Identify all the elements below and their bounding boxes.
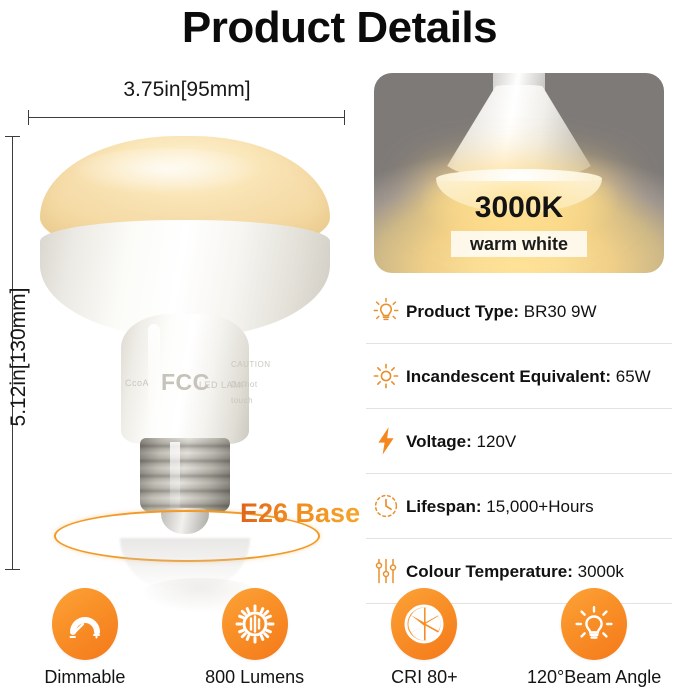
bulb-marking-left: CcoA: [125, 378, 149, 388]
width-dimension-line: [28, 117, 345, 118]
bulb-screw-highlight: [170, 442, 180, 508]
feature-label-lumens: 800 Lumens: [205, 667, 304, 688]
card-bulb-body: [438, 85, 600, 181]
spec-lifespan-text: Lifespan: 15,000+Hours: [406, 496, 598, 517]
spec-label-voltage: Voltage:: [406, 432, 472, 451]
spec-label-product-type: Product Type:: [406, 302, 519, 321]
sun-icon: [366, 363, 406, 389]
spec-list: Product Type: BR30 9W Incandescent Equiv…: [366, 279, 672, 604]
page-title: Product Details: [0, 2, 679, 54]
feature-label-dimmable: Dimmable: [44, 667, 125, 688]
product-details-infographic: Product Details 3.75in[95mm] 5.12in[130m…: [0, 0, 679, 696]
spec-row-incandescent-equivalent: Incandescent Equivalent: 65W: [366, 344, 672, 409]
spec-label-lifespan: Lifespan:: [406, 497, 482, 516]
bulb-dome-highlight: [72, 148, 262, 194]
spec-row-product-type: Product Type: BR30 9W: [366, 279, 672, 344]
spec-voltage-text: Voltage: 120V: [406, 431, 520, 452]
feature-dimmable: Dimmable: [0, 588, 170, 696]
spec-label-colour-temperature: Colour Temperature:: [406, 562, 573, 581]
bolt-icon: [366, 426, 406, 456]
feature-label-cri: CRI 80+: [391, 667, 458, 688]
lightbulb-icon: [366, 297, 406, 325]
spec-row-lifespan: Lifespan: 15,000+Hours: [366, 474, 672, 539]
feature-icon-row: Dimmable 800 Lumens: [0, 588, 679, 696]
bulb-marking-caution-3: touch: [231, 396, 253, 405]
e26-base-label: E26 Base: [240, 498, 360, 529]
bulb-marking-caution: CAUTION: [231, 360, 271, 369]
kelvin-description: warm white: [451, 231, 587, 257]
brightness-gear-icon: [222, 588, 288, 660]
spec-colour-temperature-text: Colour Temperature: 3000k: [406, 561, 628, 582]
clock-icon: [366, 492, 406, 520]
spec-incandescent-text: Incandescent Equivalent: 65W: [406, 366, 655, 387]
beam-bulb-icon: [561, 588, 627, 660]
color-wheel-icon: [391, 588, 457, 660]
spec-value-colour-temperature: 3000k: [578, 562, 624, 581]
spec-value-product-type: BR30 9W: [524, 302, 597, 321]
bulb-screw-base: [140, 438, 230, 512]
feature-cri: CRI 80+: [340, 588, 510, 696]
bulb-marking-caution-2: Do not: [231, 380, 258, 389]
feature-label-beam-angle: 120°Beam Angle: [527, 667, 661, 688]
spec-value-voltage: 120V: [477, 432, 517, 451]
spec-value-incandescent: 65W: [616, 367, 651, 386]
sliders-icon: [366, 557, 406, 585]
dimmer-icon: [52, 588, 118, 660]
feature-beam-angle: 120°Beam Angle: [509, 588, 679, 696]
kelvin-value: 3000K: [374, 191, 664, 225]
spec-row-voltage: Voltage: 120V: [366, 409, 672, 474]
spec-product-type-text: Product Type: BR30 9W: [406, 301, 601, 322]
spec-label-incandescent: Incandescent Equivalent:: [406, 367, 611, 386]
bulb-neck-highlight: [148, 324, 160, 430]
feature-lumens: 800 Lumens: [170, 588, 340, 696]
spec-value-lifespan: 15,000+Hours: [486, 497, 593, 516]
width-dimension-label: 3.75in[95mm]: [28, 78, 346, 102]
color-temperature-card: 3000K warm white: [374, 73, 664, 273]
